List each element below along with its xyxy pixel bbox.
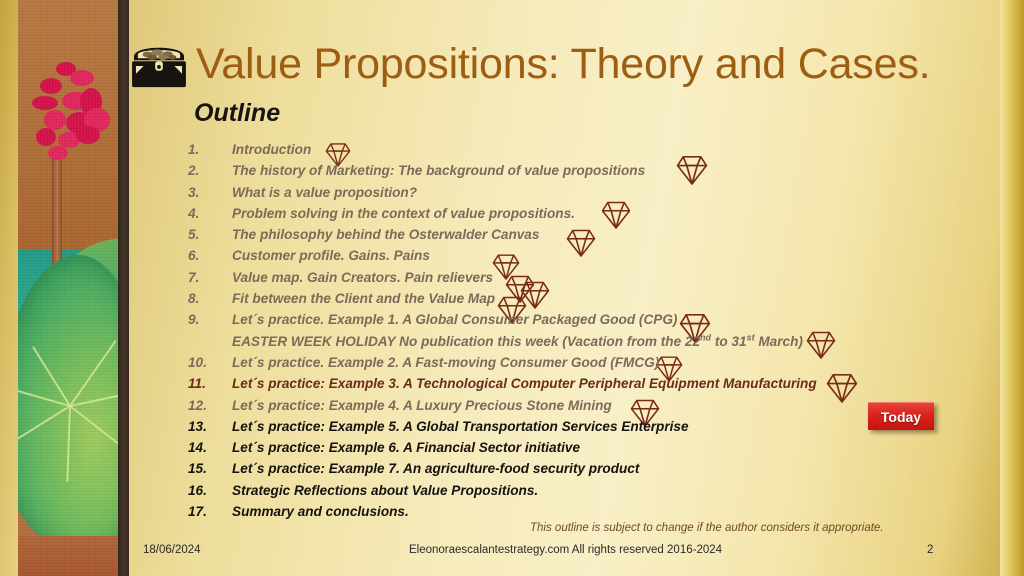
outline-item-label: The history of Marketing: The background… (232, 163, 645, 178)
outline-item-number: 9. (188, 312, 222, 327)
outline-item[interactable]: EASTER WEEK HOLIDAY No publication this … (188, 334, 948, 355)
outline-item-number: 4. (188, 206, 222, 221)
outline-item-number: 7. (188, 270, 222, 285)
outline-item[interactable]: 16.Strategic Reflections about Value Pro… (188, 483, 948, 504)
outline-item-number: 15. (188, 461, 222, 476)
footer-date: 18/06/2024 (143, 544, 201, 556)
outline-item-label: Let´s practice: Example 6. A Financial S… (232, 440, 580, 455)
outline-item-label: Summary and conclusions. (232, 504, 409, 519)
today-badge[interactable]: Today (868, 402, 934, 430)
artwork-paper-grain (18, 0, 118, 576)
outline-item-label: Introduction (232, 142, 311, 157)
outline-item-number: 8. (188, 291, 222, 306)
outline-item-label: Let´s practice. Example 1. A Global Cons… (232, 312, 677, 327)
left-gold-strip (0, 0, 18, 576)
outline-item-label: Strategic Reflections about Value Propos… (232, 483, 538, 498)
outline-item-number: 10. (188, 355, 222, 370)
botanical-artwork (18, 0, 118, 576)
footer-copyright: Eleonoraescalantestrategy.com All rights… (409, 544, 722, 556)
outline-item[interactable]: 15.Let´s practice: Example 7. An agricul… (188, 461, 948, 482)
outline-item[interactable]: 5.The philosophy behind the Osterwalder … (188, 227, 948, 248)
outline-item-label: Let´s practice: Example 5. A Global Tran… (232, 419, 689, 434)
outline-item-number: 12. (188, 398, 222, 413)
outline-item-number: 6. (188, 248, 222, 263)
outline-list: 1.Introduction2.The history of Marketing… (188, 142, 948, 525)
outline-item-number: 16. (188, 483, 222, 498)
outline-item-note: EASTER WEEK HOLIDAY No publication this … (232, 334, 803, 349)
outline-item[interactable]: 11.Let´s practice: Example 3. A Technolo… (188, 376, 948, 397)
right-gold-strip (1000, 0, 1024, 576)
outline-item-label: Let´s practice: Example 3. A Technologic… (232, 376, 817, 391)
outline-item-label: The philosophy behind the Osterwalder Ca… (232, 227, 539, 242)
outline-item-label: Value map. Gain Creators. Pain relievers (232, 270, 493, 285)
outline-item[interactable]: 10.Let´s practice. Example 2. A Fast-mov… (188, 355, 948, 376)
section-heading: Outline (194, 99, 280, 128)
outline-item-label: Let´s practice: Example 4. A Luxury Prec… (232, 398, 612, 413)
outline-item-number: 5. (188, 227, 222, 242)
outline-item-number: 17. (188, 504, 222, 519)
slide-canvas: Value Propositions: Theory and Cases. Ou… (0, 0, 1024, 576)
outline-item[interactable]: 9.Let´s practice. Example 1. A Global Co… (188, 312, 948, 333)
outline-item[interactable]: 7.Value map. Gain Creators. Pain relieve… (188, 270, 948, 291)
outline-item[interactable]: 12.Let´s practice: Example 4. A Luxury P… (188, 398, 948, 419)
outline-item-label: Problem solving in the context of value … (232, 206, 575, 221)
outline-item-label: Let´s practice. Example 2. A Fast-moving… (232, 355, 659, 370)
outline-item-label: Customer profile. Gains. Pains (232, 248, 430, 263)
outline-item-number: 2. (188, 163, 222, 178)
outline-item-number: 14. (188, 440, 222, 455)
outline-item[interactable]: 1.Introduction (188, 142, 948, 163)
disclaimer-text: This outline is subject to change if the… (530, 522, 884, 534)
outline-item-label: What is a value proposition? (232, 185, 417, 200)
outline-item-label: Let´s practice: Example 7. An agricultur… (232, 461, 639, 476)
footer-page-number: 2 (927, 544, 933, 556)
treasure-chest-icon (128, 41, 190, 91)
outline-item[interactable]: 13.Let´s practice: Example 5. A Global T… (188, 419, 948, 440)
outline-item[interactable]: 8.Fit between the Client and the Value M… (188, 291, 948, 312)
outline-item[interactable]: 3.What is a value proposition? (188, 185, 948, 206)
outline-item[interactable]: 6.Customer profile. Gains. Pains (188, 248, 948, 269)
outline-item-label: Fit between the Client and the Value Map (232, 291, 495, 306)
outline-item[interactable]: 14.Let´s practice: Example 6. A Financia… (188, 440, 948, 461)
outline-item[interactable]: 4.Problem solving in the context of valu… (188, 206, 948, 227)
outline-item-number: 13. (188, 419, 222, 434)
page-title: Value Propositions: Theory and Cases. (196, 39, 930, 89)
outline-item-number: 3. (188, 185, 222, 200)
outline-item-number: 1. (188, 142, 222, 157)
outline-item[interactable]: 2.The history of Marketing: The backgrou… (188, 163, 948, 184)
outline-item-number: 11. (188, 376, 222, 391)
